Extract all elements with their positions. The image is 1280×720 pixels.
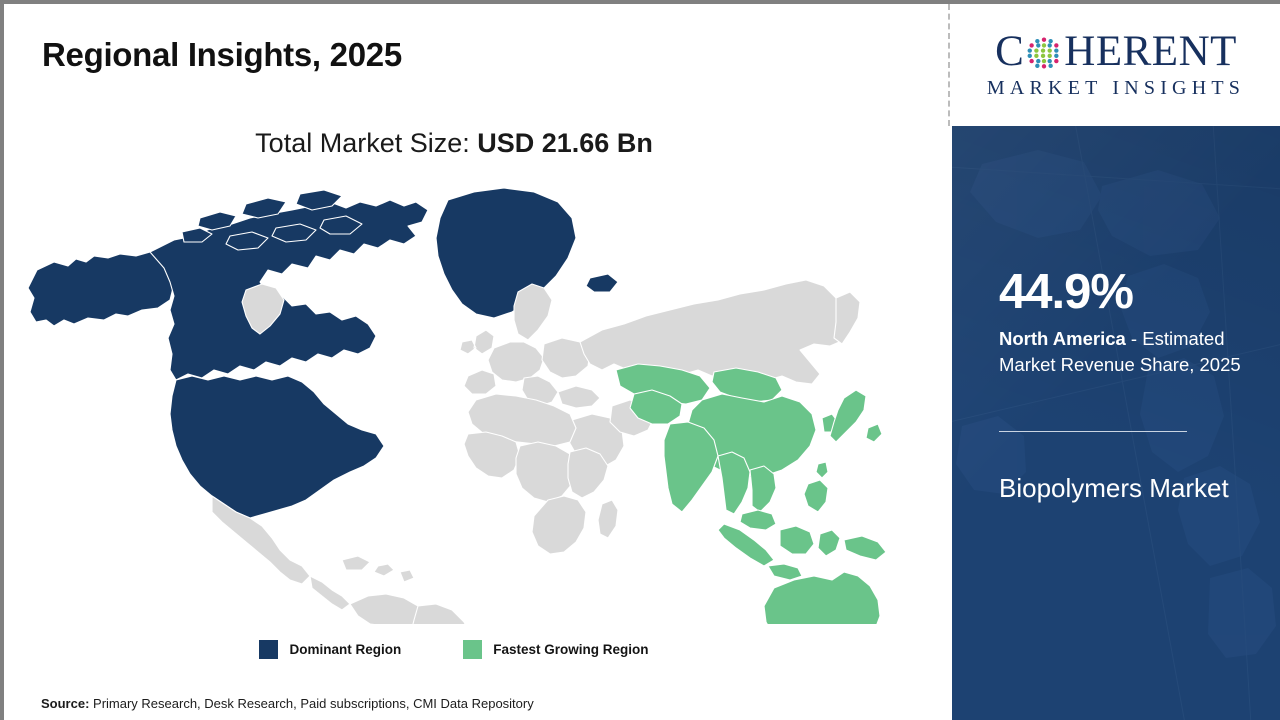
country-indonesia-sulawesi [818,530,840,556]
country-greenland [436,188,576,318]
legend-label-dominant: Dominant Region [289,642,401,657]
logo-letter-c: C [995,27,1024,76]
panel-content: 44.9% North America - Estimated Market R… [952,126,1280,720]
logo-wordmark: C [966,27,1266,75]
source-note: Source: Primary Research, Desk Research,… [41,696,534,711]
caribbean-islands [342,556,414,582]
legend-item-dominant: Dominant Region [259,640,401,659]
country-uk-ireland [460,330,494,354]
source-text: Primary Research, Desk Research, Paid su… [89,696,533,711]
source-label: Source: [41,696,89,711]
country-central-africa [516,442,576,502]
country-indonesia-java [768,564,802,580]
vertical-divider [948,4,950,126]
island-small-ne [586,274,618,292]
country-taiwan [816,462,828,478]
country-united-states [170,376,384,518]
country-alaska [28,252,174,326]
logo-wordmark-rest: HERENT [1064,27,1237,76]
dominant-color-swatch [259,640,278,659]
country-southern-africa [532,496,586,554]
country-malaysia [740,510,776,530]
legend-item-fastest-growing: Fastest Growing Region [463,640,648,659]
page-title: Regional Insights, 2025 [42,36,402,74]
stat-description: North America - Estimated Market Revenue… [999,326,1247,379]
stat-panel: 44.9% North America - Estimated Market R… [952,126,1280,720]
country-india [664,422,718,512]
logo-tagline: MARKET INSIGHTS [966,77,1266,100]
country-indonesia-borneo [780,526,814,554]
coherent-market-insights-logo: C [966,19,1266,111]
world-map [24,184,904,624]
infographic-root: Regional Insights, 2025 Total Market Siz… [0,0,1280,720]
country-madagascar [598,500,618,538]
region-south-america [350,594,476,624]
country-scandinavia [514,284,552,340]
central-america [310,576,350,610]
logo-container: C [952,4,1280,126]
market-name: Biopolymers Market [999,470,1249,507]
country-papua-new-guinea [844,536,886,560]
dotted-globe-icon [1025,34,1063,72]
country-japan [830,390,882,442]
left-content-pane: Regional Insights, 2025 Total Market Siz… [4,4,952,720]
total-market-size: Total Market Size: USD 21.66 Bn [4,128,904,159]
total-market-size-value: USD 21.66 Bn [477,128,653,158]
total-market-size-label: Total Market Size: [255,128,477,158]
map-legend: Dominant Region Fastest Growing Region [4,640,904,659]
country-venezuela-colombia [350,594,424,624]
country-kamchatka [834,292,860,344]
country-myanmar-thailand [718,452,750,514]
fastest-growing-color-swatch [463,640,482,659]
country-vietnam-cambodia [750,466,776,512]
country-australia [764,572,880,624]
country-turkey [558,386,600,408]
country-philippines [804,480,828,512]
region-asia-pacific [616,364,904,624]
legend-label-fastest-growing: Fastest Growing Region [493,642,648,657]
stat-divider-rule [999,431,1187,432]
country-iberia [464,370,496,394]
stat-region-name: North America [999,328,1126,349]
stat-share-value: 44.9% [999,268,1133,317]
world-map-svg [24,184,904,624]
